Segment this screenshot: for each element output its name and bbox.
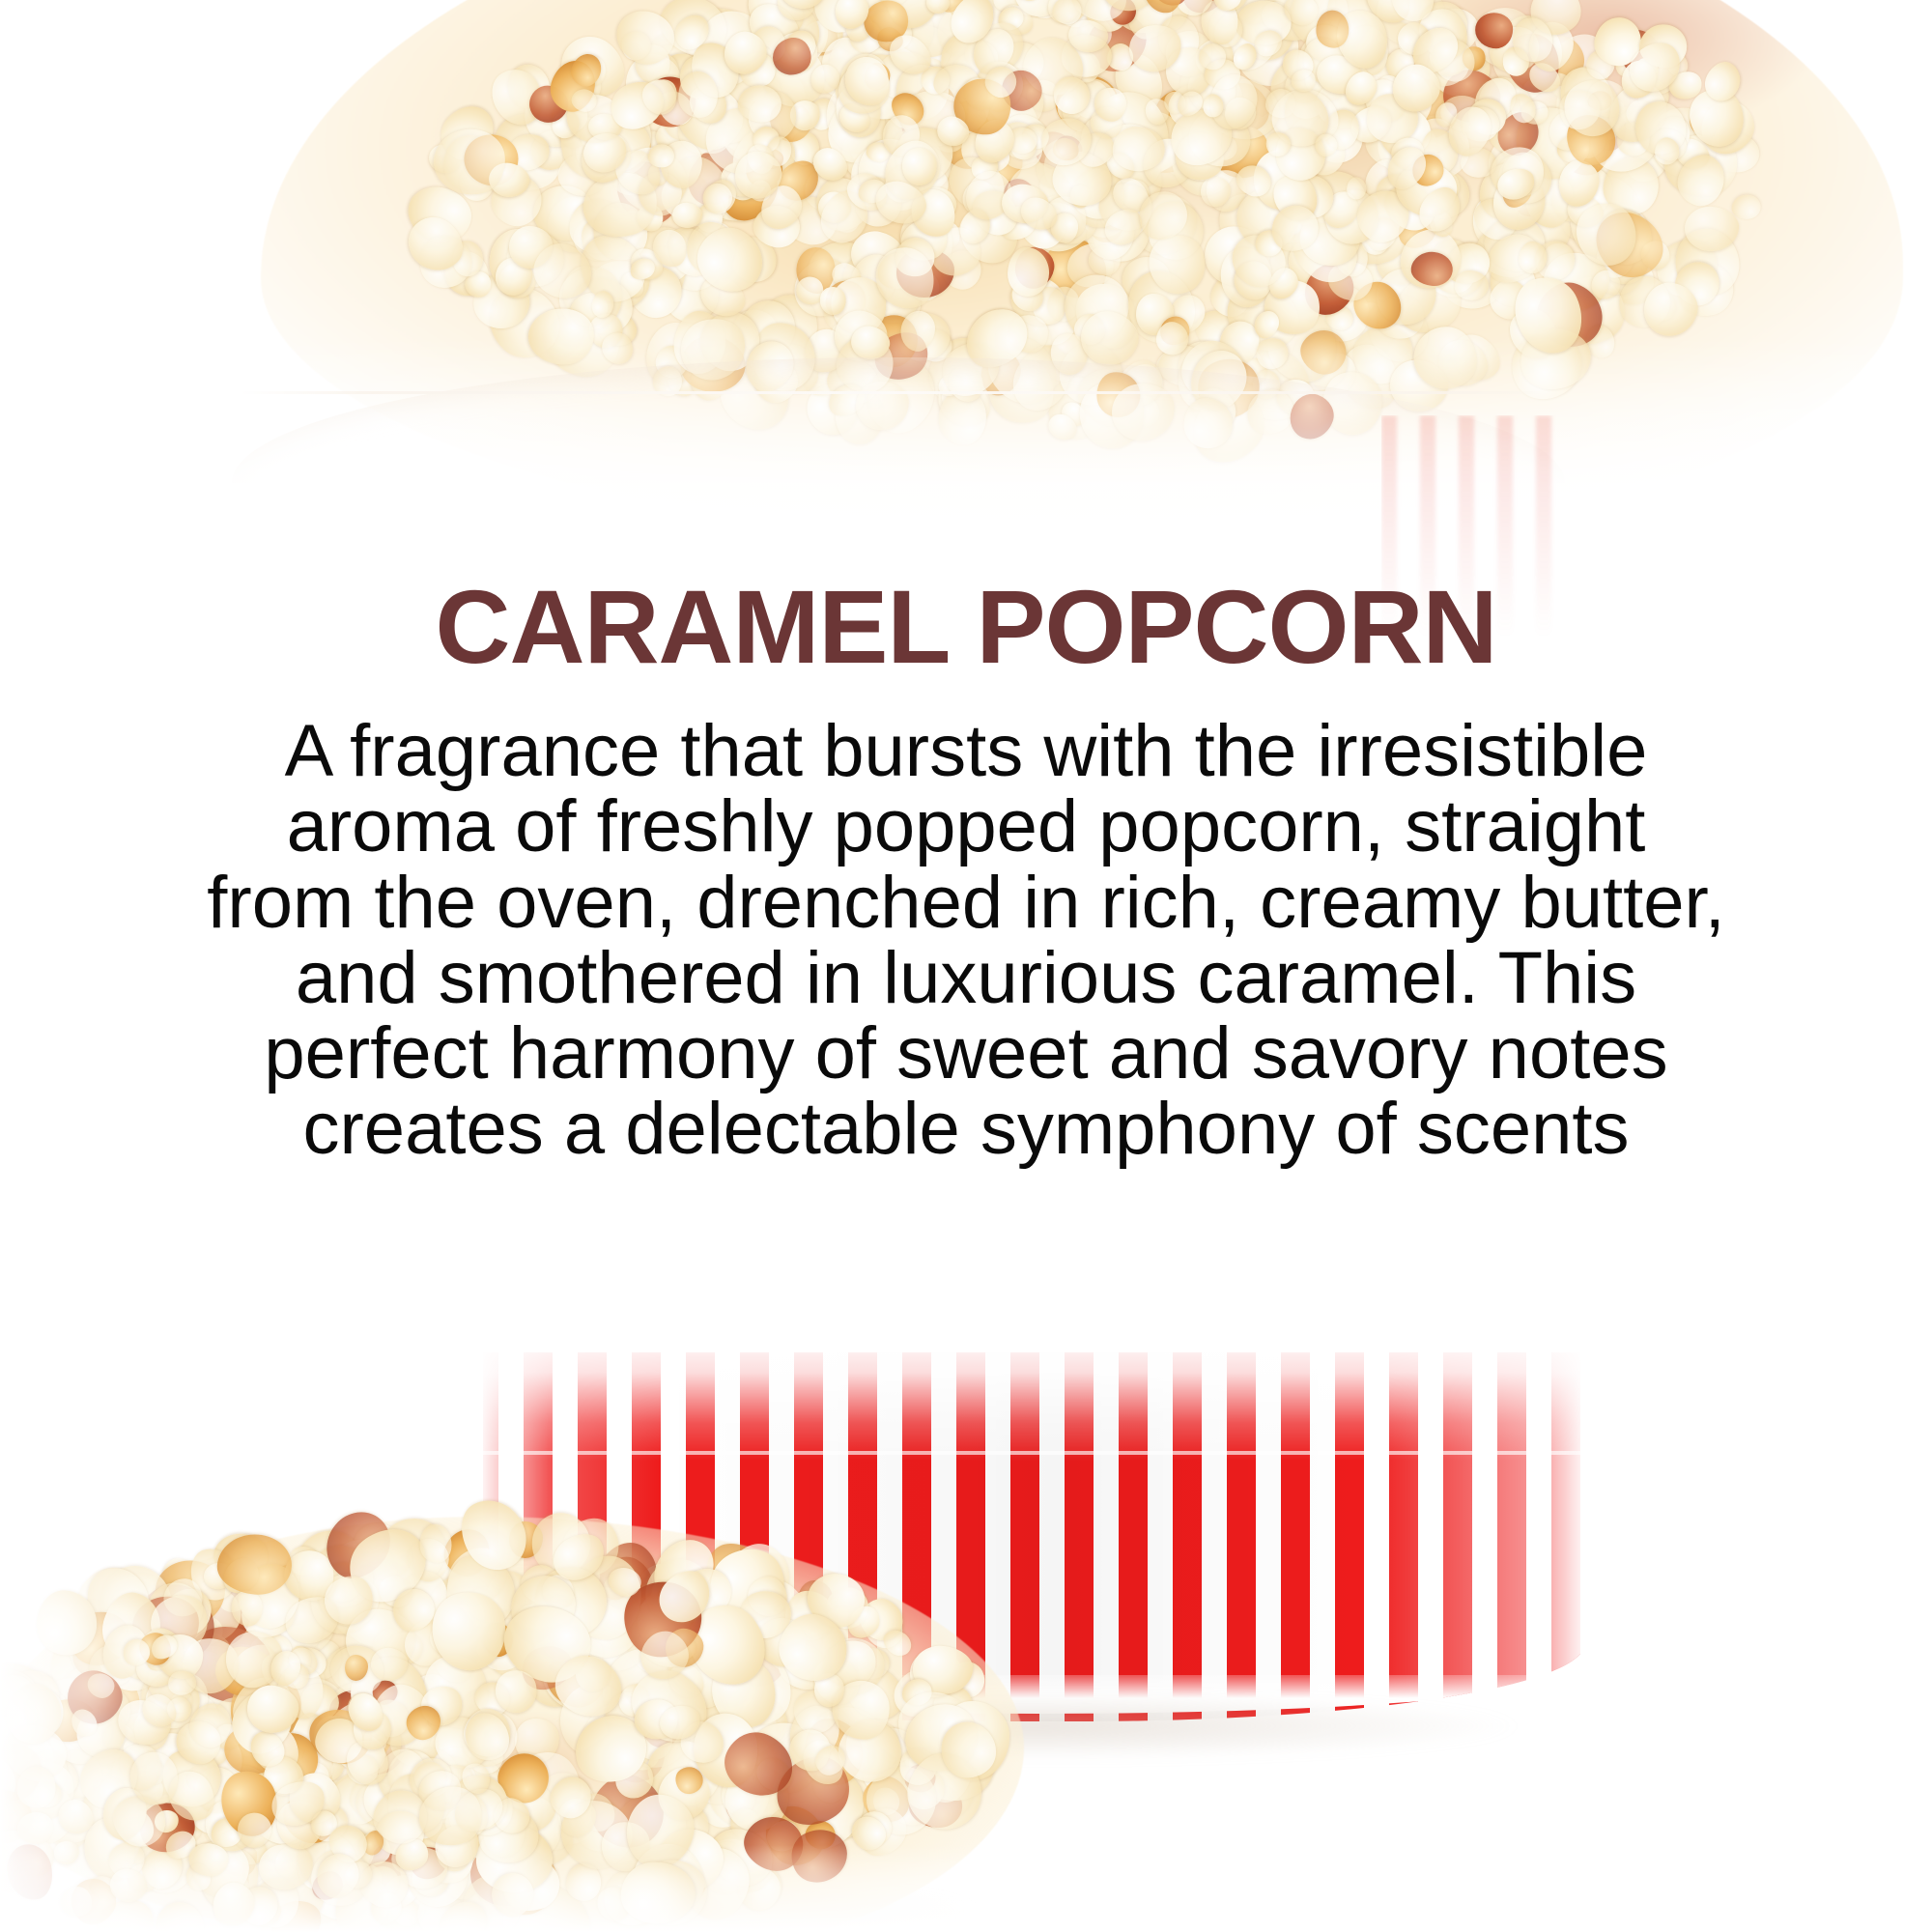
popcorn-kernel	[0, 1848, 27, 1886]
description-line: aroma of freshly popped popcorn, straigh…	[19, 789, 1913, 865]
photo-edge-fade-right	[1739, 1352, 1932, 1932]
top-photo-fade	[0, 338, 1932, 541]
description-line: and smothered in luxurious caramel. This	[19, 941, 1913, 1016]
text-block: CARAMEL POPCORN A fragrance that bursts …	[0, 575, 1932, 1168]
product-description: A fragrance that bursts with the irresis…	[19, 714, 1913, 1168]
popcorn-mound-photo	[0, 0, 1932, 541]
spilled-popcorn-pile	[0, 1410, 1101, 1932]
striped-popcorn-bucket-photo	[0, 1352, 1932, 1932]
description-line: from the oven, drenched in rich, creamy …	[19, 866, 1913, 941]
description-line: A fragrance that bursts with the irresis…	[19, 714, 1913, 789]
product-card: CARAMEL POPCORN A fragrance that bursts …	[0, 0, 1932, 1932]
description-line: creates a delectable symphony of scents	[19, 1092, 1913, 1167]
pile-mass	[0, 1517, 1024, 1932]
page-title: CARAMEL POPCORN	[0, 575, 1932, 679]
description-line: perfect harmony of sweet and savory note…	[19, 1016, 1913, 1092]
